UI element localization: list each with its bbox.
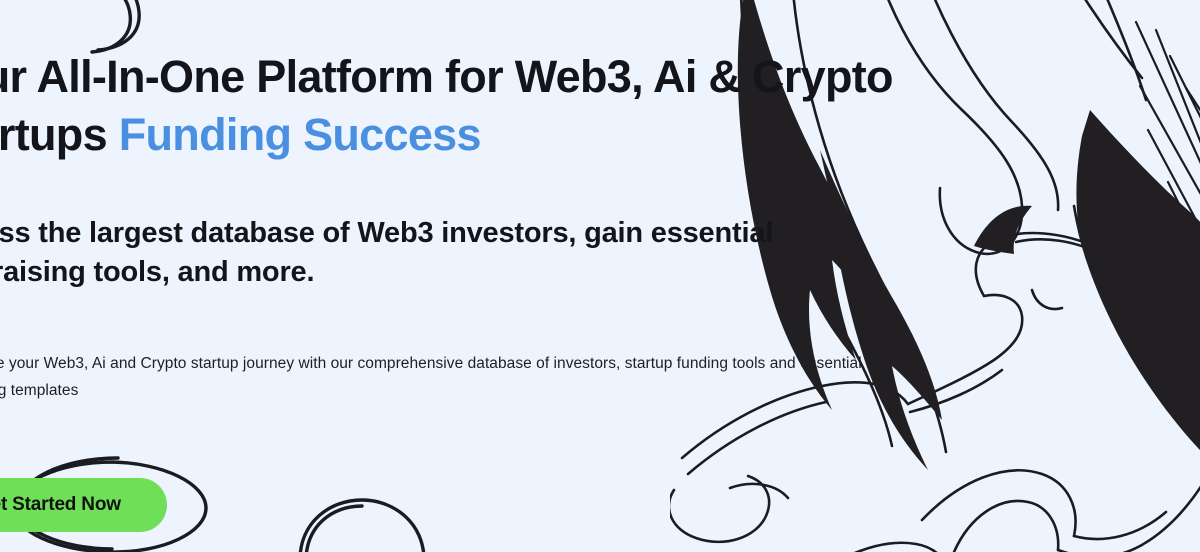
hero-subheadline: Access the largest database of Web3 inve… <box>0 214 860 292</box>
get-started-button[interactable]: Get Started Now <box>0 478 167 532</box>
page-title: Your All-In-One Platform for Web3, Ai & … <box>0 48 960 164</box>
feather-shape <box>1076 110 1200 480</box>
headline-line-2-accent: Funding Success <box>119 109 481 160</box>
headline-line-2-plain: Startups <box>0 109 119 160</box>
headline-line-1: Your All-In-One Platform for Web3, Ai & … <box>0 51 893 102</box>
hero-description: Streamline your Web3, Ai and Crypto star… <box>0 350 930 404</box>
hero-copy: Your All-In-One Platform for Web3, Ai & … <box>0 0 990 552</box>
hero-section: Your All-In-One Platform for Web3, Ai & … <box>0 0 1200 552</box>
cta-container: Get Started Now <box>0 478 167 532</box>
